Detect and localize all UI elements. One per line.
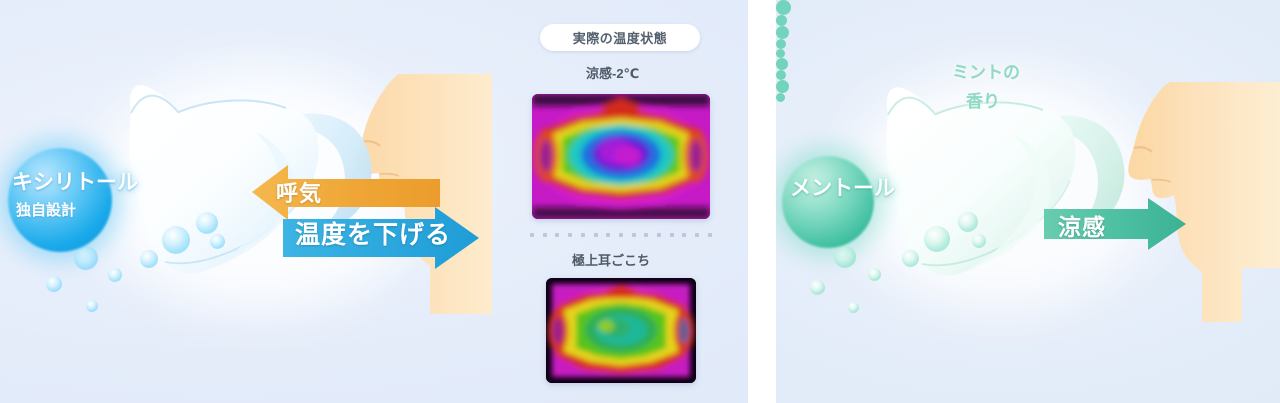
thermal-divider <box>530 232 712 238</box>
particle <box>848 302 859 313</box>
particle <box>74 246 98 270</box>
mint-dot <box>776 39 786 49</box>
mint-dot <box>776 26 789 39</box>
particle <box>108 268 122 282</box>
mint-label-line2: 香り <box>966 87 1000 112</box>
particle <box>196 212 218 234</box>
particle <box>902 250 919 267</box>
particle <box>868 268 881 281</box>
particle <box>924 226 950 252</box>
thermal-top-caption-text: 涼感-2℃ <box>586 66 639 81</box>
cooling-arrow-label: 温度を下げる <box>295 215 451 251</box>
thermal-bottom-caption-text: 極上耳ごこち <box>572 253 650 268</box>
thermal-badge: 実際の温度状態 <box>540 24 700 51</box>
mint-dot <box>776 49 785 58</box>
particle <box>162 226 190 254</box>
particle <box>834 246 856 268</box>
right-panel: ミントの 香り メントール <box>776 0 1280 403</box>
thermal-badge-text: 実際の温度状態 <box>573 28 668 47</box>
xylitol-sphere <box>8 148 112 252</box>
cooling-arrow-right-label: 涼感 <box>1058 208 1106 242</box>
xylitol-label: キシリトール <box>12 166 138 196</box>
mask-glow-right <box>846 70 1156 310</box>
panel-divider <box>748 0 776 403</box>
particle <box>140 250 158 268</box>
thermal-bottom-caption: 極上耳ごこち <box>572 250 650 269</box>
thermal-image-bottom <box>546 278 696 383</box>
particle <box>46 276 62 292</box>
particle <box>210 234 225 249</box>
menthol-label: メントール <box>790 172 895 202</box>
thermal-image-top <box>532 94 710 219</box>
mint-label-line1: ミントの <box>952 58 1020 83</box>
mint-dot <box>776 15 787 26</box>
particle <box>86 300 98 312</box>
promo-graphic: キシリトール 独自設計 呼気 <box>0 0 1280 403</box>
breath-arrow-label: 呼気 <box>276 176 322 208</box>
particle <box>972 234 986 248</box>
mint-dot <box>776 58 788 70</box>
particle <box>958 212 978 232</box>
thermal-top-caption: 涼感-2℃ <box>586 63 639 82</box>
xylitol-sub-label: 独自設計 <box>16 199 76 220</box>
particle <box>810 280 825 295</box>
mint-dot <box>776 0 791 15</box>
mint-dot <box>776 80 789 93</box>
left-panel: キシリトール 独自設計 呼気 <box>0 0 748 403</box>
menthol-sphere <box>782 156 874 248</box>
mint-dot <box>776 70 786 80</box>
mint-dot <box>776 93 785 102</box>
mask-illustration-right <box>864 76 1144 300</box>
